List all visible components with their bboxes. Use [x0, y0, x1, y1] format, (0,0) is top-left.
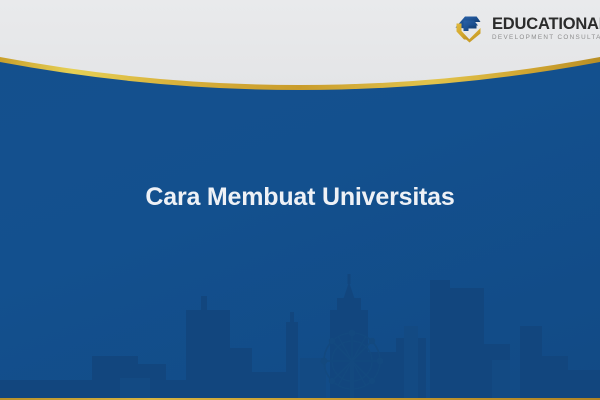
logo-subtitle: DEVELOPMENT CONSULTANT [492, 33, 600, 42]
logo-title: EDUCATIONAL [492, 16, 600, 33]
city-skyline-silhouette [0, 260, 600, 400]
brand-logo: EDUCATIONAL DEVELOPMENT CONSULTANT [452, 11, 600, 45]
slide-title: Cara Membuat Universitas [0, 181, 600, 213]
slide-canvas: EDUCATIONAL DEVELOPMENT CONSULTANT Cara … [0, 0, 600, 400]
educational-logo-mark-icon [452, 11, 486, 45]
logo-wordmark: EDUCATIONAL DEVELOPMENT CONSULTANT [492, 14, 600, 42]
